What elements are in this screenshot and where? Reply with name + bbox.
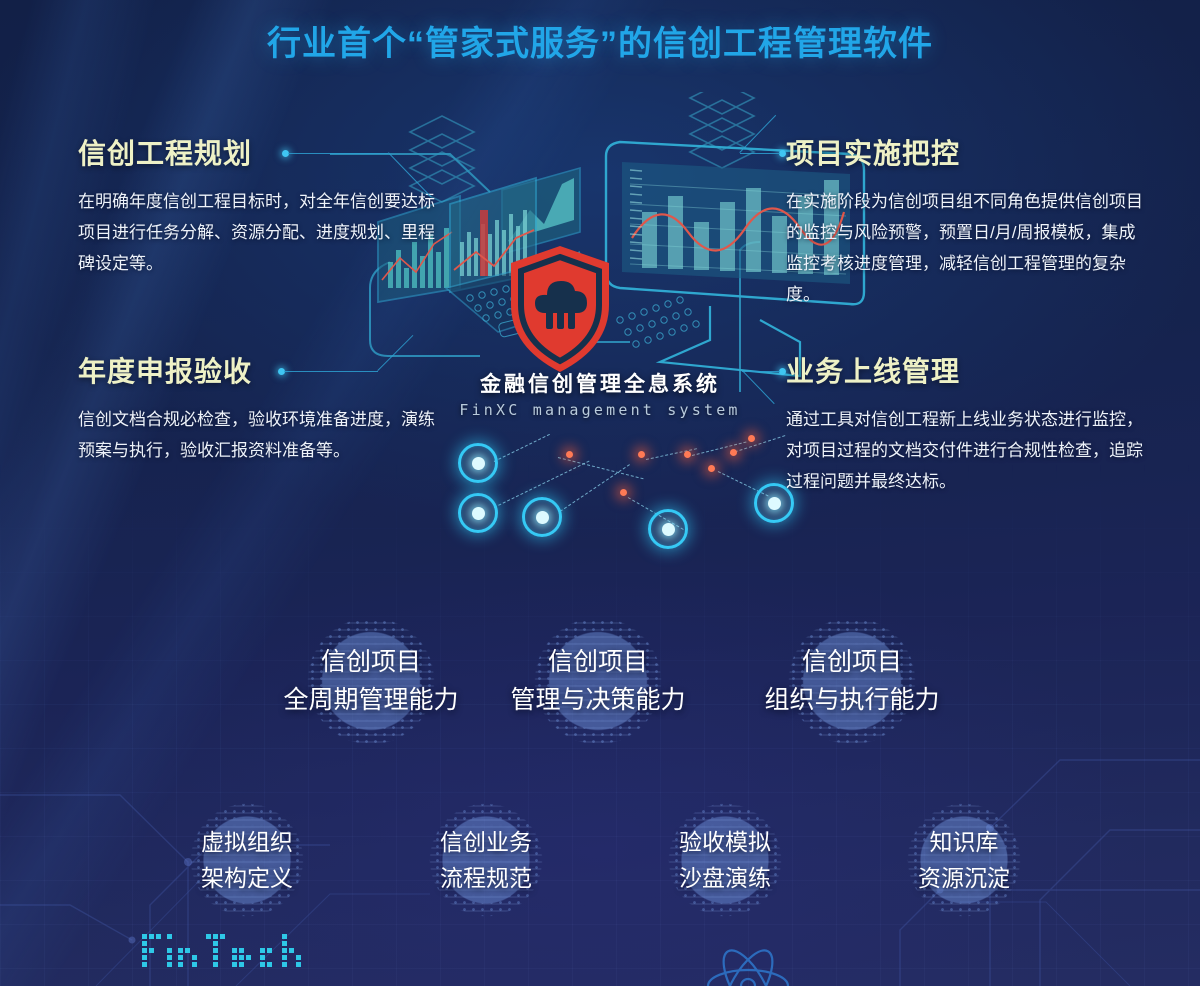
layer-stack-icon-right <box>690 92 754 168</box>
network-node <box>522 497 562 537</box>
feature-body: 信创文档合规必检查，验收环境准备进度，演练预案与执行，验收汇报资料准备等。 <box>78 404 438 466</box>
feature-title: 业务上线管理 <box>786 350 1146 390</box>
atom-icon <box>700 938 796 986</box>
sphere-label-line1: 信创业务 <box>440 824 532 860</box>
sphere-label-line2: 沙盘演练 <box>679 860 771 896</box>
network-node <box>458 443 498 483</box>
capability-sphere: 信创项目 组织与执行能力 <box>762 591 942 771</box>
sphere-label-line1: 信创项目 <box>764 643 939 681</box>
feature-title: 项目实施把控 <box>786 132 1146 172</box>
module-sphere: 验收模拟 沙盘演练 <box>645 780 805 940</box>
network-node <box>648 509 688 549</box>
network-relay-dot <box>566 451 573 458</box>
module-sphere: 虚拟组织 架构定义 <box>167 780 327 940</box>
feature-body: 通过工具对信创工程新上线业务状态进行监控，对项目过程的文档交付件进行合规性检查，… <box>786 404 1146 497</box>
feature-title: 信创工程规划 <box>78 132 438 172</box>
infographic-canvas: 行业首个“管家式服务”的信创工程管理软件 <box>0 0 1200 986</box>
network-node <box>458 493 498 533</box>
capability-sphere: 信创项目 全周期管理能力 <box>281 591 461 771</box>
network-relay-dot <box>748 435 755 442</box>
feature-block-implementation: 项目实施把控 在实施阶段为信创项目组不同角色提供信创项目的监控与风险预警，预置日… <box>786 132 1146 310</box>
network-relay-dot <box>684 451 691 458</box>
sphere-label-line1: 知识库 <box>918 824 1010 860</box>
keyboard-dots-right <box>617 297 699 347</box>
module-sphere: 知识库 资源沉淀 <box>884 780 1044 940</box>
module-sphere: 信创业务 流程规范 <box>406 780 566 940</box>
network-relay-dot <box>730 449 737 456</box>
capability-sphere: 信创项目 管理与决策能力 <box>508 591 688 771</box>
sphere-label-line2: 流程规范 <box>440 860 532 896</box>
sphere-label-line2: 管理与决策能力 <box>510 681 685 719</box>
sphere-label-line2: 全周期管理能力 <box>283 681 458 719</box>
sphere-label-line1: 信创项目 <box>283 643 458 681</box>
sphere-label-line2: 架构定义 <box>201 860 293 896</box>
network-relay-dot <box>638 451 645 458</box>
network-relay-dot <box>620 489 627 496</box>
feature-body: 在实施阶段为信创项目组不同角色提供信创项目的监控与风险预警，预置日/月/周报模板… <box>786 186 1146 310</box>
feature-block-business-launch: 业务上线管理 通过工具对信创工程新上线业务状态进行监控，对项目过程的文档交付件进… <box>786 350 1146 497</box>
page-title: 行业首个“管家式服务”的信创工程管理软件 <box>0 16 1200 65</box>
product-name-cn: 金融信创管理全息系统 <box>380 368 820 398</box>
fintech-wordmark <box>140 930 330 976</box>
sphere-label-line1: 验收模拟 <box>679 824 771 860</box>
feature-title: 年度申报验收 <box>78 350 438 390</box>
shield-cloud-chart-icon <box>505 243 615 375</box>
feature-body: 在明确年度信创工程目标时，对全年信创要达标项目进行任务分解、资源分配、进度规划、… <box>78 186 438 279</box>
product-name: 金融信创管理全息系统 FinXC management system <box>380 368 820 419</box>
network-relay-dot <box>708 465 715 472</box>
sphere-label-line2: 资源沉淀 <box>918 860 1010 896</box>
feature-block-planning: 信创工程规划 在明确年度信创工程目标时，对全年信创要达标项目进行任务分解、资源分… <box>78 132 438 279</box>
sphere-label-line1: 虚拟组织 <box>201 824 293 860</box>
sphere-label-line2: 组织与执行能力 <box>764 681 939 719</box>
sphere-label-line1: 信创项目 <box>510 643 685 681</box>
feature-block-annual-acceptance: 年度申报验收 信创文档合规必检查，验收环境准备进度，演练预案与执行，验收汇报资料… <box>78 350 438 466</box>
